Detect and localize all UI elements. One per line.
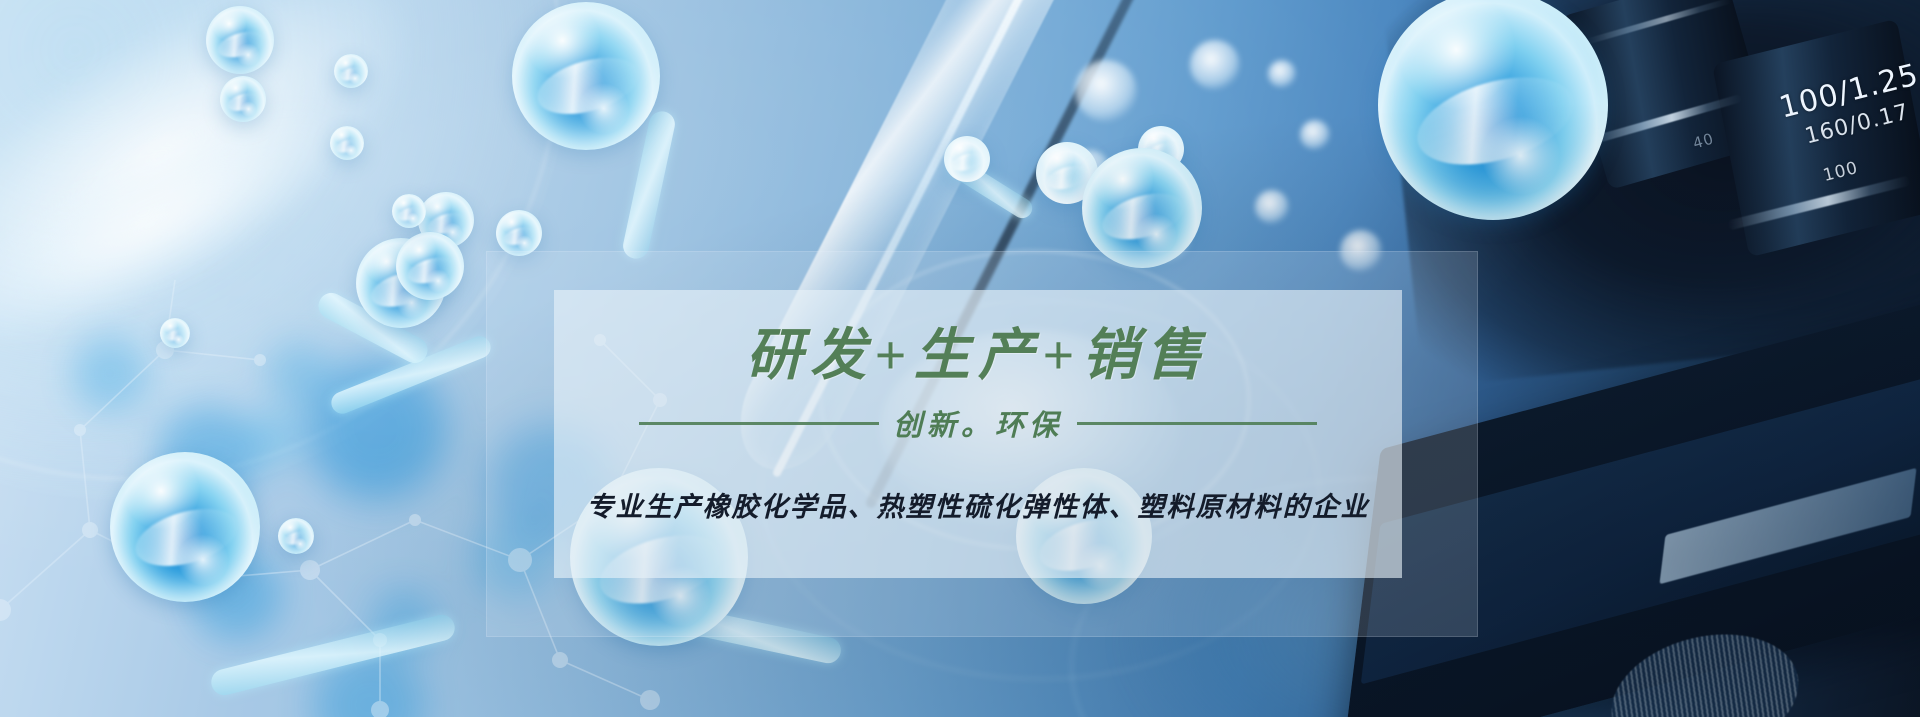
molecule-ball xyxy=(206,6,274,74)
bokeh-dot xyxy=(1255,190,1289,224)
page-title: 研发+生产+销售 xyxy=(554,310,1402,391)
microscope-focus-knob xyxy=(1598,616,1811,717)
molecule-ball xyxy=(330,126,364,160)
molecule-ball xyxy=(334,54,368,88)
divider-right xyxy=(1077,422,1317,425)
molecule-ball xyxy=(496,210,542,256)
hero-banner: 100/1.25 160/0.17 100 40 xyxy=(0,0,1920,717)
tagline: 专业生产橡胶化学品、热塑性硫化弹性体、塑料原材料的企业 xyxy=(554,485,1402,524)
subtitle: 创新。环保 xyxy=(893,402,1063,444)
molecule-ball xyxy=(160,318,190,348)
molecule-ball xyxy=(110,452,260,602)
microscope-slide xyxy=(1659,468,1916,585)
molecule-ball xyxy=(392,194,426,228)
top-left-sphere xyxy=(0,0,570,500)
bokeh-dot xyxy=(1340,230,1382,272)
molecule-ball xyxy=(278,518,314,554)
molecule-bond xyxy=(209,612,458,698)
bokeh-dot xyxy=(1268,60,1296,88)
microscope-stage-top xyxy=(1361,363,1920,684)
molecule-ball xyxy=(396,232,464,300)
bokeh-dot xyxy=(1190,40,1240,90)
top-left-sphere-arc xyxy=(0,0,560,480)
molecule-ball xyxy=(1082,148,1202,268)
bokeh-dot xyxy=(1300,120,1330,150)
microscope-base-glass xyxy=(1120,507,1640,717)
divider-left xyxy=(639,422,879,425)
bokeh-dot xyxy=(1075,60,1137,122)
molecule-ball xyxy=(512,2,660,150)
molecule-ball xyxy=(944,136,990,182)
subtitle-row: 创新。环保 xyxy=(554,402,1402,444)
microscope-stage-plate xyxy=(1341,284,1920,717)
molecule-ball xyxy=(220,76,266,122)
molecule-ball xyxy=(1378,0,1608,220)
